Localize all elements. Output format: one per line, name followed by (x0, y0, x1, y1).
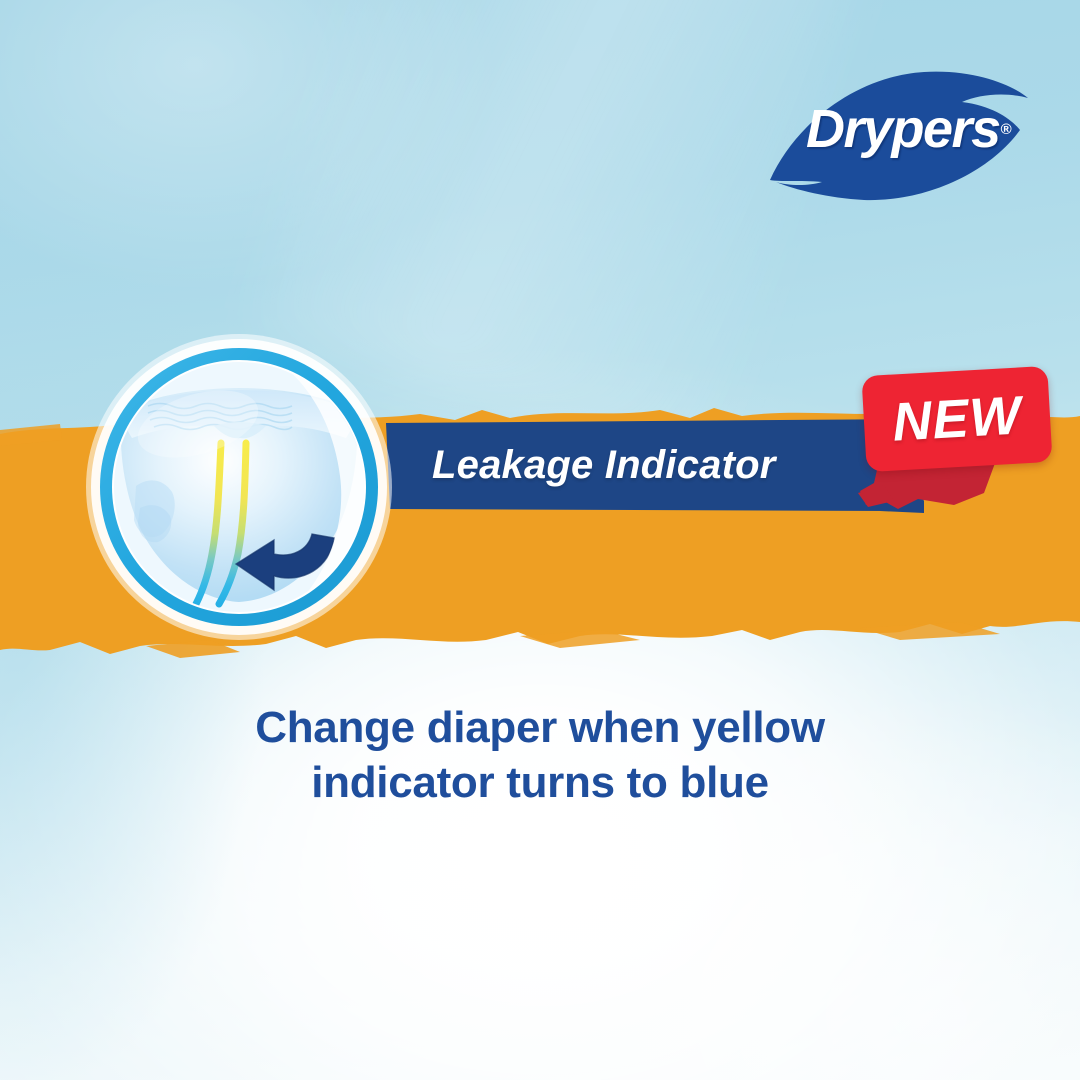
banner-label: Leakage Indicator (432, 434, 852, 496)
registered-trademark-icon: ® (1001, 122, 1012, 137)
caption-line-2: indicator turns to blue (140, 755, 940, 810)
new-badge-label: NEW (891, 388, 1023, 449)
poster-canvas: Leakage Indicator NEW (0, 0, 1080, 1080)
new-badge: NEW (861, 366, 1052, 472)
drypers-wordmark-text: Drypers (806, 102, 1000, 156)
drypers-wordmark: Drypers® (806, 92, 1006, 166)
leakage-indicator-illustration (78, 326, 400, 648)
caption-line-1: Change diaper when yellow (140, 700, 940, 755)
caption: Change diaper when yellow indicator turn… (140, 700, 940, 811)
